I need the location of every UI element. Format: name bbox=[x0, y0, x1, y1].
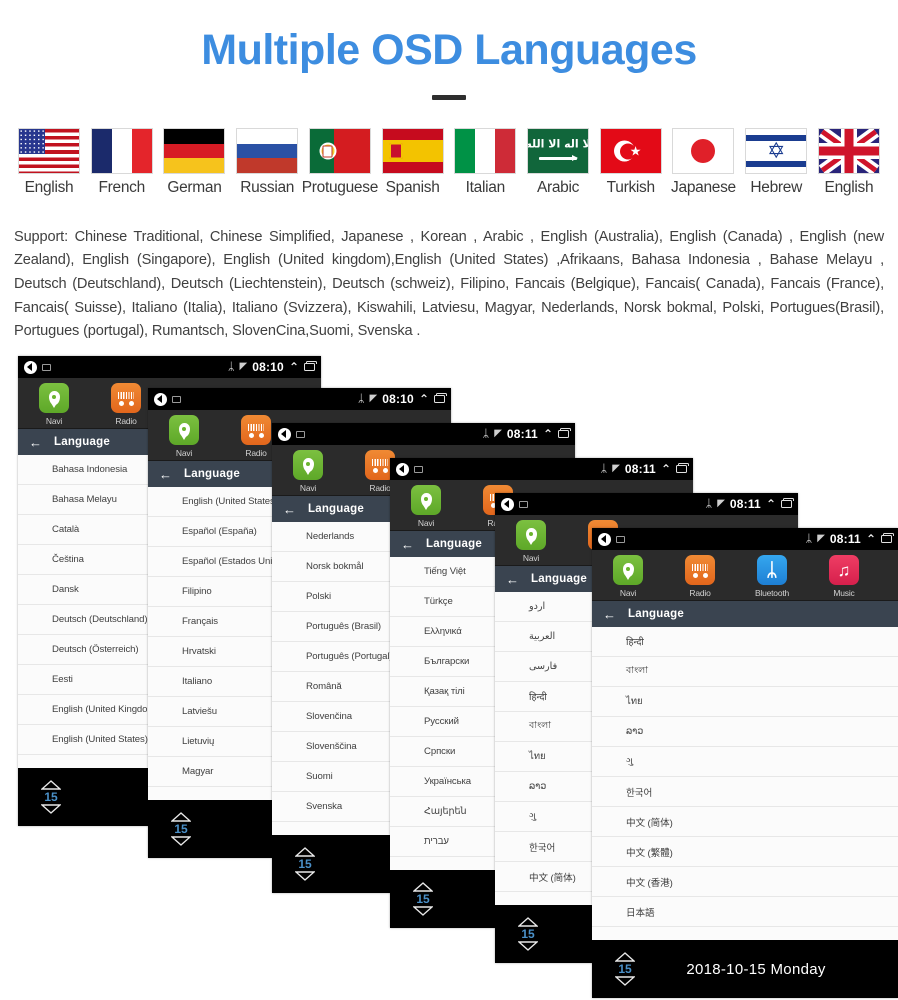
flag-cell-english-uk: English bbox=[814, 128, 884, 197]
language-list-item[interactable]: ગુ bbox=[592, 747, 898, 777]
flag-cell-russian: Russian bbox=[232, 128, 302, 197]
status-bar: ᛦ◤08:11⌃ bbox=[495, 493, 798, 515]
recents-icon[interactable] bbox=[558, 430, 569, 438]
back-circle-icon[interactable] bbox=[396, 463, 409, 476]
chevron-up-icon[interactable]: ⌃ bbox=[866, 533, 876, 545]
app-shortcut-navi[interactable]: Navi bbox=[592, 555, 664, 598]
language-list-item[interactable]: 한국어 bbox=[592, 777, 898, 807]
flag-cell-portuguese: Protuguese bbox=[305, 128, 375, 197]
app-label: Radio bbox=[689, 588, 710, 598]
flag-label: Hebrew bbox=[750, 179, 802, 197]
status-bar-clock: 08:11 bbox=[507, 427, 538, 441]
app-shortcut-music[interactable]: ♫Music bbox=[808, 555, 880, 598]
volume-value: 15 bbox=[521, 928, 534, 940]
flag-label: English bbox=[25, 179, 74, 197]
status-bar: ᛦ◤08:11⌃ bbox=[390, 458, 693, 480]
bluetooth-status-icon: ᛦ bbox=[358, 394, 365, 405]
recents-icon[interactable] bbox=[676, 465, 687, 473]
app-label: Radio bbox=[245, 448, 266, 458]
language-list-item[interactable]: 中文 (繁體) bbox=[592, 837, 898, 867]
flag-saudi-arabia-icon: لا اله الا الله bbox=[527, 128, 589, 174]
volume-up-triangle-icon[interactable] bbox=[171, 812, 191, 822]
app-shortcut-radio[interactable]: Radio bbox=[664, 555, 736, 598]
bluetooth-status-icon: ᛦ bbox=[601, 464, 608, 475]
status-bar-clock: 08:11 bbox=[730, 497, 761, 511]
screen-title: Language bbox=[308, 503, 364, 515]
language-screen-header: ←Language bbox=[592, 601, 898, 627]
flag-label: French bbox=[98, 179, 144, 197]
flag-germany-icon bbox=[163, 128, 225, 174]
flag-label: Japanese bbox=[671, 179, 736, 197]
flag-label: Russian bbox=[240, 179, 294, 197]
home-icon[interactable] bbox=[172, 396, 181, 403]
flag-label: Arabic bbox=[537, 179, 579, 197]
status-bar-clock: 08:11 bbox=[830, 532, 861, 546]
flag-cell-german: German bbox=[159, 128, 229, 197]
recents-icon[interactable] bbox=[434, 395, 445, 403]
status-bar-clock: 08:10 bbox=[252, 360, 284, 374]
flag-cell-spanish: Spanish bbox=[378, 128, 448, 197]
app-shortcut-navi[interactable]: Navi bbox=[272, 450, 344, 493]
back-arrow-icon[interactable]: ← bbox=[506, 573, 519, 586]
back-circle-icon[interactable] bbox=[598, 533, 611, 546]
flag-cell-japanese: Japanese bbox=[668, 128, 738, 197]
screen-title: Language bbox=[531, 573, 587, 585]
bluetooth-status-icon: ᛦ bbox=[706, 499, 713, 510]
bluetooth-icon[interactable]: ᛦ bbox=[757, 555, 787, 585]
app-shortcut-navi[interactable]: Navi bbox=[18, 383, 90, 426]
flag-cell-italian: Italian bbox=[450, 128, 520, 197]
volume-control[interactable]: 15 bbox=[592, 952, 654, 986]
navi-icon[interactable] bbox=[613, 555, 643, 585]
recents-icon[interactable] bbox=[304, 363, 315, 371]
date-time-display: 2018-10-15 Monday bbox=[654, 961, 898, 978]
home-icon[interactable] bbox=[519, 501, 528, 508]
flag-strip: English French German Russian Protuguese… bbox=[0, 100, 898, 197]
language-list-item[interactable]: हिन्दी bbox=[592, 627, 898, 657]
volume-control[interactable]: 15 bbox=[390, 882, 452, 916]
flag-label: Turkish bbox=[607, 179, 655, 197]
app-shortcut-settings[interactable]: ⚙Settings bbox=[880, 555, 898, 598]
device-screenshot-cascade: ᛦ◤08:10⌃NaviRadio←LanguageBahasa Indones… bbox=[0, 352, 898, 992]
status-bar: ᛦ◤08:11⌃ bbox=[592, 528, 898, 550]
app-shortcut-navi[interactable]: Navi bbox=[148, 415, 220, 458]
back-circle-icon[interactable] bbox=[24, 361, 37, 374]
flag-label: English bbox=[825, 179, 874, 197]
navi-icon[interactable] bbox=[411, 485, 441, 515]
flag-spain-icon bbox=[382, 128, 444, 174]
volume-up-triangle-icon[interactable] bbox=[518, 917, 538, 927]
volume-up-triangle-icon[interactable] bbox=[413, 882, 433, 892]
status-bar-clock: 08:10 bbox=[382, 392, 414, 406]
screen-title: Language bbox=[54, 436, 110, 448]
volume-up-triangle-icon[interactable] bbox=[41, 780, 61, 790]
radio-icon[interactable] bbox=[111, 383, 141, 413]
chevron-up-icon[interactable]: ⌃ bbox=[766, 498, 776, 510]
volume-control[interactable]: 15 bbox=[18, 780, 80, 814]
signal-status-icon: ◤ bbox=[817, 534, 825, 544]
recents-icon[interactable] bbox=[881, 535, 892, 543]
page-title: Multiple OSD Languages bbox=[0, 0, 898, 73]
app-label: Navi bbox=[300, 483, 316, 493]
status-bar: ᛦ◤08:10⌃ bbox=[18, 356, 321, 378]
bluetooth-status-icon: ᛦ bbox=[806, 534, 813, 545]
language-list-item[interactable]: বাংলা bbox=[592, 657, 898, 687]
volume-value: 15 bbox=[44, 791, 57, 803]
bottom-bar: 152018-10-15 Monday bbox=[592, 940, 898, 998]
radio-icon[interactable] bbox=[685, 555, 715, 585]
flag-cell-french: French bbox=[87, 128, 157, 197]
volume-down-triangle-icon[interactable] bbox=[518, 941, 538, 951]
home-icon[interactable] bbox=[296, 431, 305, 438]
flag-label: German bbox=[167, 179, 221, 197]
back-arrow-icon[interactable]: ← bbox=[29, 436, 42, 449]
app-label: Navi bbox=[523, 553, 539, 563]
navi-icon[interactable] bbox=[169, 415, 199, 445]
volume-down-triangle-icon[interactable] bbox=[295, 871, 315, 881]
flag-cell-turkish: ★ Turkish bbox=[596, 128, 666, 197]
back-arrow-icon[interactable]: ← bbox=[401, 538, 414, 551]
chevron-up-icon[interactable]: ⌃ bbox=[419, 393, 429, 405]
flag-france-icon bbox=[91, 128, 153, 174]
signal-status-icon: ◤ bbox=[717, 499, 725, 509]
flag-japan-icon bbox=[672, 128, 734, 174]
home-icon[interactable] bbox=[42, 364, 51, 371]
navi-icon[interactable] bbox=[293, 450, 323, 480]
flag-united-states-icon bbox=[18, 128, 80, 174]
volume-value: 15 bbox=[618, 963, 631, 975]
app-label: Radio bbox=[369, 483, 390, 493]
signal-status-icon: ◤ bbox=[494, 429, 502, 439]
screen-title: Language bbox=[628, 608, 684, 620]
back-circle-icon[interactable] bbox=[154, 393, 167, 406]
language-list-item[interactable]: 中文 (香港) bbox=[592, 867, 898, 897]
volume-down-triangle-icon[interactable] bbox=[171, 836, 191, 846]
chevron-up-icon[interactable]: ⌃ bbox=[661, 463, 671, 475]
volume-control[interactable]: 15 bbox=[148, 812, 210, 846]
app-shortcut-bar: NaviRadioᛦBluetooth♫Music⚙Settings bbox=[592, 550, 898, 601]
screen-title: Language bbox=[184, 468, 240, 480]
back-circle-icon[interactable] bbox=[278, 428, 291, 441]
device-screen-6: ᛦ◤08:11⌃NaviRadioᛦBluetooth♫Music⚙Settin… bbox=[592, 528, 898, 998]
back-arrow-icon[interactable]: ← bbox=[159, 468, 172, 481]
recents-icon[interactable] bbox=[781, 500, 792, 508]
volume-up-triangle-icon[interactable] bbox=[295, 847, 315, 857]
chevron-up-icon[interactable]: ⌃ bbox=[543, 428, 553, 440]
volume-up-triangle-icon[interactable] bbox=[615, 952, 635, 962]
flag-cell-english-us: English bbox=[14, 128, 84, 197]
navi-icon[interactable] bbox=[516, 520, 546, 550]
flag-label: Italian bbox=[466, 179, 505, 197]
volume-down-triangle-icon[interactable] bbox=[615, 976, 635, 986]
app-shortcut-bluetooth[interactable]: ᛦBluetooth bbox=[736, 555, 808, 598]
home-icon[interactable] bbox=[414, 466, 423, 473]
flag-cell-arabic: لا اله الا الله Arabic bbox=[523, 128, 593, 197]
flag-turkey-icon: ★ bbox=[600, 128, 662, 174]
status-bar: ᛦ◤08:10⌃ bbox=[148, 388, 451, 410]
app-label: Music bbox=[833, 588, 854, 598]
app-label: Navi bbox=[176, 448, 192, 458]
supported-languages-paragraph: Support: Chinese Traditional, Chinese Si… bbox=[0, 212, 898, 344]
signal-status-icon: ◤ bbox=[240, 362, 248, 372]
signal-status-icon: ◤ bbox=[370, 394, 378, 404]
app-label: Bluetooth bbox=[755, 588, 789, 598]
bluetooth-status-icon: ᛦ bbox=[483, 429, 490, 440]
flag-russia-icon bbox=[236, 128, 298, 174]
music-icon[interactable]: ♫ bbox=[829, 555, 859, 585]
flag-portugal-icon bbox=[309, 128, 371, 174]
flag-italy-icon bbox=[454, 128, 516, 174]
volume-value: 15 bbox=[298, 858, 311, 870]
volume-down-triangle-icon[interactable] bbox=[413, 906, 433, 916]
volume-value: 15 bbox=[416, 893, 429, 905]
app-label: Radio bbox=[115, 416, 136, 426]
volume-control[interactable]: 15 bbox=[495, 917, 557, 951]
bluetooth-status-icon: ᛦ bbox=[228, 362, 235, 373]
volume-down-triangle-icon[interactable] bbox=[41, 804, 61, 814]
back-arrow-icon[interactable]: ← bbox=[283, 503, 296, 516]
language-list-item[interactable]: ລາວ bbox=[592, 717, 898, 747]
volume-value: 15 bbox=[174, 823, 187, 835]
app-label: Navi bbox=[418, 518, 434, 528]
radio-icon[interactable] bbox=[241, 415, 271, 445]
app-label: Navi bbox=[620, 588, 636, 598]
home-icon[interactable] bbox=[616, 536, 625, 543]
signal-status-icon: ◤ bbox=[612, 464, 620, 474]
back-arrow-icon[interactable]: ← bbox=[603, 608, 616, 621]
screen-title: Language bbox=[426, 538, 482, 550]
status-bar-clock: 08:11 bbox=[625, 462, 656, 476]
app-shortcut-navi[interactable]: Navi bbox=[495, 520, 567, 563]
flag-label: Protuguese bbox=[302, 179, 378, 197]
app-shortcut-navi[interactable]: Navi bbox=[390, 485, 462, 528]
status-bar: ᛦ◤08:11⌃ bbox=[272, 423, 575, 445]
flag-label: Spanish bbox=[386, 179, 440, 197]
navi-icon[interactable] bbox=[39, 383, 69, 413]
back-circle-icon[interactable] bbox=[501, 498, 514, 511]
flag-israel-icon: ✡ bbox=[745, 128, 807, 174]
flag-cell-hebrew: ✡ Hebrew bbox=[741, 128, 811, 197]
chevron-up-icon[interactable]: ⌃ bbox=[289, 361, 299, 373]
language-list-item[interactable]: 中文 (简体) bbox=[592, 807, 898, 837]
language-list-item[interactable]: ไทย bbox=[592, 687, 898, 717]
volume-control[interactable]: 15 bbox=[272, 847, 334, 881]
language-list[interactable]: हिन्दीবাংলাไทยລາວગુ한국어中文 (简体)中文 (繁體)中文 (… bbox=[592, 627, 898, 940]
flag-united-kingdom-icon bbox=[818, 128, 880, 174]
app-label: Navi bbox=[46, 416, 62, 426]
language-list-item[interactable]: 日本語 bbox=[592, 897, 898, 927]
